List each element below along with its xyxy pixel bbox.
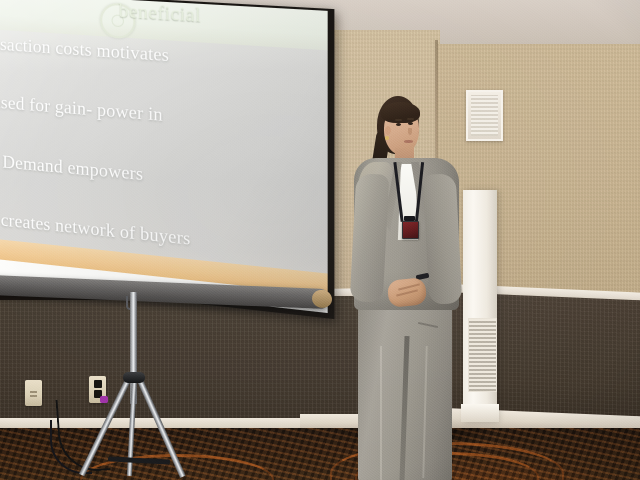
presenter [340, 96, 470, 480]
ear [385, 126, 391, 135]
blank-wall-plate [25, 380, 42, 406]
vent-slats [471, 95, 498, 136]
trouser-crease-left [380, 346, 382, 480]
wainscot-back-left [0, 300, 340, 420]
eyebrow-left [395, 119, 402, 121]
nose [408, 128, 412, 135]
screen-surface: beneficial ing transaction costs motivat… [0, 0, 328, 313]
wainscot-texture-a [0, 300, 340, 420]
arm-left [350, 173, 390, 303]
mouth [404, 140, 413, 143]
name-badge [402, 221, 419, 239]
projection-screen-assembly: beneficial ing transaction costs motivat… [0, 0, 326, 290]
tripod-hub [123, 372, 145, 383]
earring [385, 136, 389, 140]
eye-right [408, 122, 413, 125]
arm-right [423, 173, 463, 305]
roller-end-cap [312, 289, 332, 308]
outlet-socket-upper [94, 380, 102, 388]
presentation-photo: beneficial ing transaction costs motivat… [0, 0, 640, 480]
projected-slide: beneficial ing transaction costs motivat… [0, 0, 328, 313]
slide-title: beneficial [119, 1, 201, 29]
eye-left [396, 123, 401, 126]
screen-frame: beneficial ing transaction costs motivat… [0, 0, 334, 319]
hvac-vent-grille-icon [466, 90, 503, 141]
radiator-vent-grille [468, 318, 497, 392]
eyebrow-right [407, 118, 414, 120]
